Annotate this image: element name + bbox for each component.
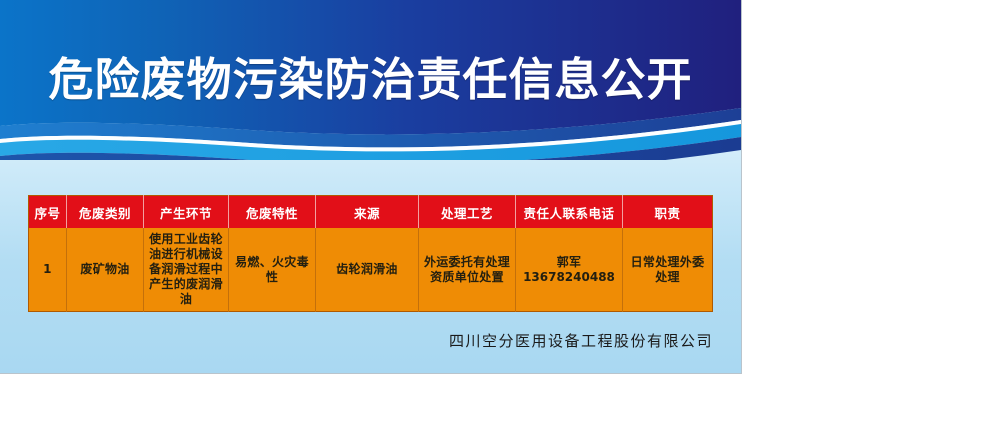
column-header-contact: 责任人联系电话 <box>516 196 623 229</box>
cell-category: 废矿物油 <box>67 228 144 312</box>
hazardous-waste-table-wrapper: 序号 危废类别 产生环节 危废特性 来源 处理工艺 责任人联系电话 职责 1 废… <box>28 195 712 312</box>
information-disclosure-poster: 危险废物污染防治责任信息公开 序号 危废类别 产生环节 危废特性 来源 <box>0 0 742 374</box>
table-row: 1 废矿物油 使用工业齿轮油进行机械设备润滑过程中产生的废润滑油 易燃、火灾毒性… <box>29 228 713 312</box>
contact-person-name: 郭军 <box>520 255 618 270</box>
column-header-index: 序号 <box>29 196 67 229</box>
cell-stage: 使用工业齿轮油进行机械设备润滑过程中产生的废润滑油 <box>144 228 229 312</box>
table-header-row: 序号 危废类别 产生环节 危废特性 来源 处理工艺 责任人联系电话 职责 <box>29 196 713 229</box>
cell-source: 齿轮润滑油 <box>316 228 419 312</box>
column-header-duty: 职责 <box>623 196 713 229</box>
cell-hazard: 易燃、火灾毒性 <box>229 228 316 312</box>
cell-duty: 日常处理外委处理 <box>623 228 713 312</box>
company-name: 四川空分医用设备工程股份有限公司 <box>0 330 713 351</box>
cell-process: 外运委托有处理资质单位处置 <box>419 228 516 312</box>
column-header-category: 危废类别 <box>67 196 144 229</box>
hazardous-waste-table: 序号 危废类别 产生环节 危废特性 来源 处理工艺 责任人联系电话 职责 1 废… <box>28 195 713 312</box>
column-header-stage: 产生环节 <box>144 196 229 229</box>
column-header-source: 来源 <box>316 196 419 229</box>
contact-person-phone: 13678240488 <box>520 270 618 285</box>
cell-index: 1 <box>29 228 67 312</box>
column-header-hazard: 危废特性 <box>229 196 316 229</box>
column-header-process: 处理工艺 <box>419 196 516 229</box>
page-title: 危险废物污染防治责任信息公开 <box>0 52 741 108</box>
cell-contact: 郭军 13678240488 <box>516 228 623 312</box>
